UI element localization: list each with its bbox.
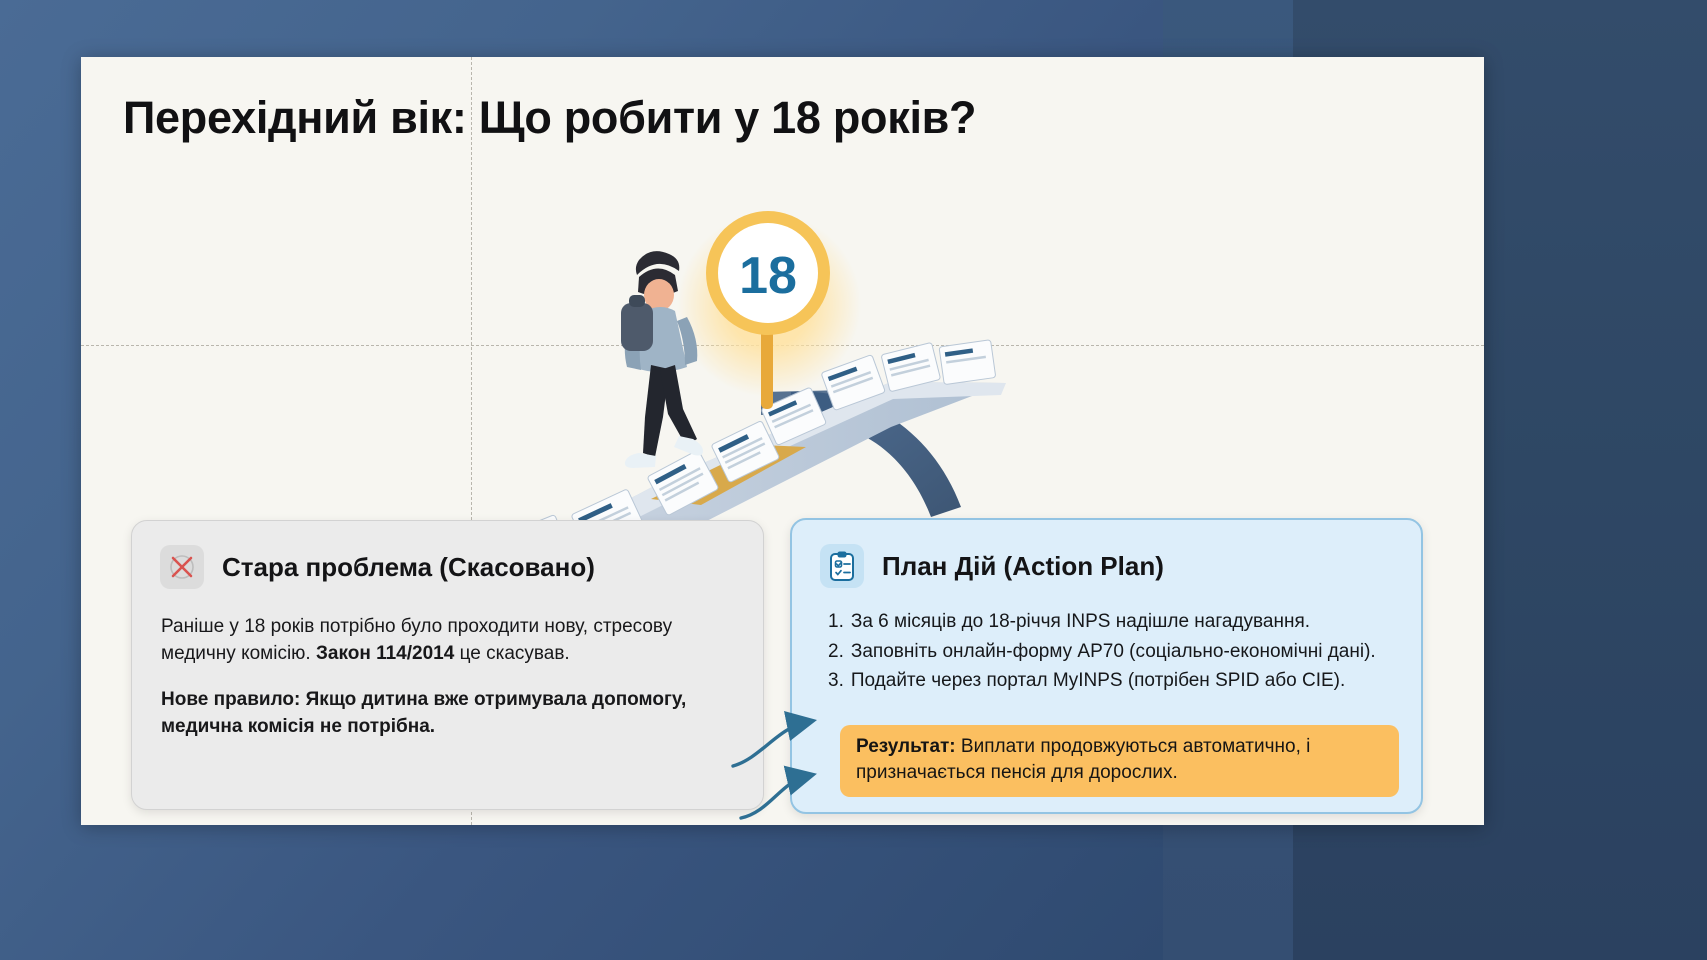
old-problem-paragraph-1: Раніше у 18 років потрібно було проходит…	[161, 614, 739, 668]
card-old-problem-body: Раніше у 18 років потрібно було проходит…	[161, 614, 739, 741]
step-number: 2.	[828, 638, 844, 666]
card-old-problem[interactable]: Стара проблема (Скасовано) Раніше у 18 р…	[131, 520, 764, 810]
step-number: 1.	[828, 608, 844, 636]
list-item: 1. За 6 місяців до 18-річчя INPS надішле…	[828, 608, 1401, 636]
card-action-plan-header: План Дій (Action Plan)	[820, 544, 1401, 588]
new-rule-label: Нове правило:	[161, 689, 300, 710]
list-item: 2. Заповніть онлайн-форму AP70 (соціальн…	[828, 638, 1401, 666]
cards-row: Стара проблема (Скасовано) Раніше у 18 р…	[81, 520, 1484, 825]
illustration-bridge-of-forms: 18	[461, 177, 1061, 577]
cancelled-x-icon	[160, 545, 204, 589]
step-number: 3.	[828, 667, 844, 695]
list-item: 3. Подайте через портал MyINPS (потрібен…	[828, 667, 1401, 695]
badge-number: 18	[739, 247, 797, 305]
card-action-plan-title: План Дій (Action Plan)	[882, 551, 1164, 582]
paragraph-spacer	[161, 668, 739, 687]
result-label: Результат:	[856, 736, 956, 757]
page-title: Перехідний вік: Що робити у 18 років?	[123, 92, 976, 144]
card-action-plan[interactable]: План Дій (Action Plan) 1. За 6 місяців д…	[790, 518, 1423, 814]
clipboard-checklist-icon	[820, 544, 864, 588]
step-text: Заповніть онлайн-форму AP70 (соціально-е…	[851, 638, 1401, 666]
old-problem-p1-post: це скасував.	[454, 643, 569, 664]
card-old-problem-header: Стара проблема (Скасовано)	[160, 545, 743, 589]
slide-canvas[interactable]: Перехідний вік: Що робити у 18 років?	[81, 57, 1484, 825]
step-text: За 6 місяців до 18-річчя INPS надішле на…	[851, 608, 1401, 636]
screen: Перехідний вік: Що робити у 18 років?	[0, 0, 1707, 960]
backpack	[621, 303, 653, 351]
old-problem-paragraph-2: Нове правило: Якщо дитина вже отримувала…	[161, 687, 739, 741]
result-callout: Результат: Виплати продовжуються автомат…	[840, 725, 1399, 797]
card-old-problem-title: Стара проблема (Скасовано)	[222, 552, 595, 583]
old-problem-law-reference: Закон 114/2014	[316, 643, 454, 664]
action-plan-steps: 1. За 6 місяців до 18-річчя INPS надішле…	[828, 608, 1401, 697]
step-text: Подайте через портал MyINPS (потрібен SP…	[851, 667, 1401, 695]
